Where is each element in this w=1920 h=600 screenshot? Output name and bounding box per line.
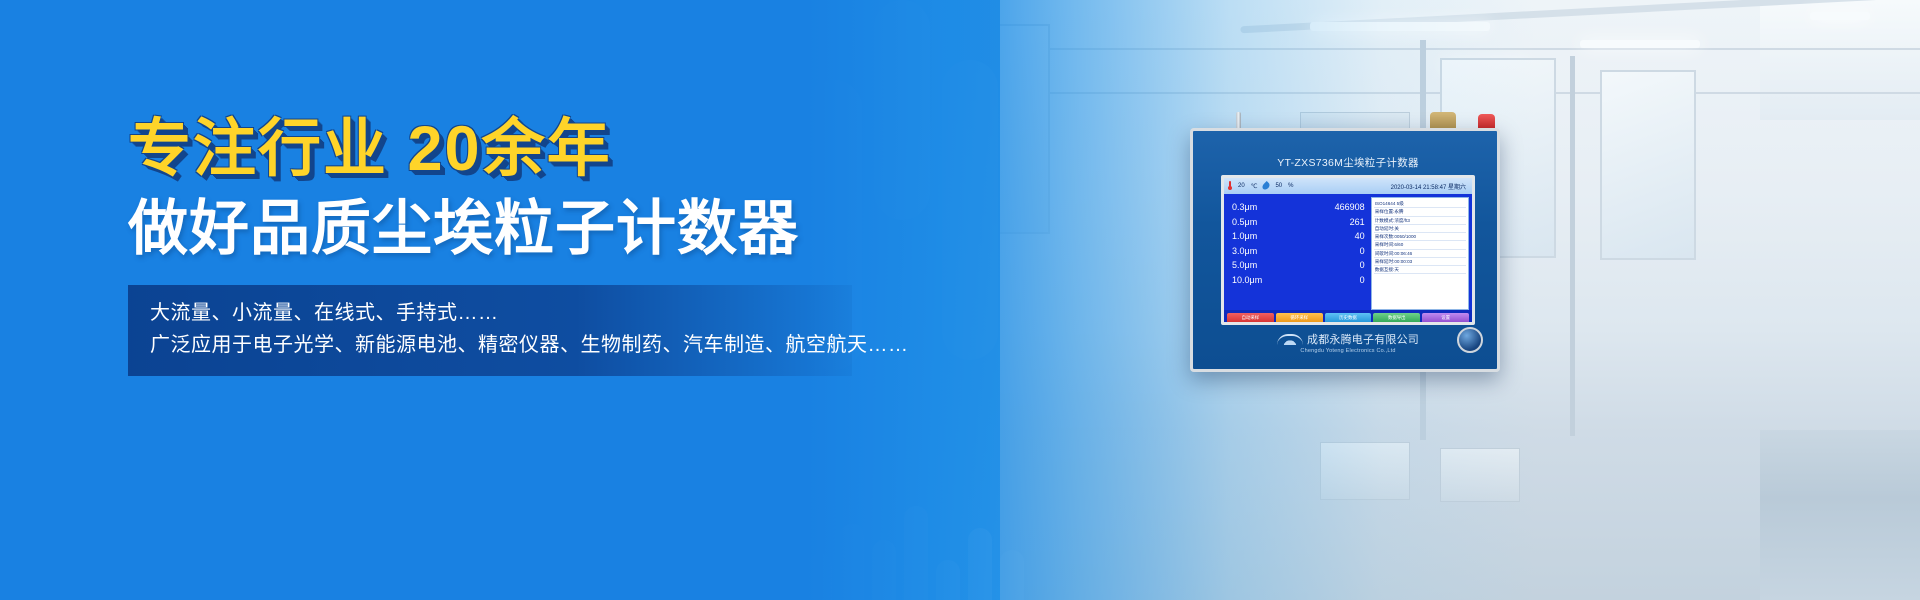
particle-size: 0.5μm: [1232, 215, 1257, 230]
headline-secondary: 做好品质尘埃粒子计数器: [128, 199, 868, 259]
humidity-unit: %: [1288, 183, 1293, 189]
hero-banner: 专注行业 20余年 做好品质尘埃粒子计数器 大流量、小流量、在线式、手持式…… …: [0, 0, 1920, 600]
particle-size: 0.3μm: [1232, 200, 1257, 215]
particle-count: 261: [1350, 215, 1365, 230]
particle-row: 10.0μm 0: [1232, 273, 1365, 288]
particle-row: 0.5μm 261: [1232, 215, 1365, 230]
description-line-1: 大流量、小流量、在线式、手持式……: [150, 297, 852, 329]
particle-size: 1.0μm: [1232, 229, 1257, 244]
device-body: YT-ZXS736M尘埃粒子计数器 20 ℃ 50 % 2020-03-14 2…: [1190, 128, 1500, 372]
particle-readings-list: 0.3μm 466908 0.5μm 261 1.0μm 40 3.0μm: [1224, 194, 1371, 310]
particle-row: 3.0μm 0: [1232, 244, 1365, 259]
particle-size: 10.0μm: [1232, 273, 1262, 288]
measurement-info-panel: ISO14644 5级 采样位置:永腾 计数模式:浓度/ft3 自动延时:关 采…: [1371, 197, 1469, 310]
temperature-value: 20: [1238, 183, 1245, 189]
datetime-display: 2020-03-14 21:58:47 星期六: [1391, 182, 1468, 191]
particle-size: 5.0μm: [1232, 258, 1257, 273]
info-row: 自动延时:关: [1374, 225, 1466, 233]
description-line-2: 广泛应用于电子光学、新能源电池、精密仪器、生物制药、汽车制造、航空航天……: [150, 329, 852, 361]
power-knob[interactable]: [1457, 327, 1483, 353]
device-model-title: YT-ZXS736M尘埃粒子计数器: [1193, 155, 1503, 170]
info-row: 采样时间:6/60: [1374, 241, 1466, 249]
info-row: 计数模式:浓度/ft3: [1374, 217, 1466, 225]
particle-row: 0.3μm 466908: [1232, 200, 1365, 215]
particle-counter-device: YT-ZXS736M尘埃粒子计数器 20 ℃ 50 % 2020-03-14 2…: [1190, 112, 1500, 372]
brand-name-en: Chengdu Yoteng Electronics Co.,Ltd: [1193, 348, 1503, 354]
particle-count: 0: [1360, 273, 1365, 288]
humidity-drop-icon: [1261, 181, 1271, 191]
particle-row: 5.0μm 0: [1232, 258, 1365, 273]
info-row: 采样延时:00:00:03: [1374, 258, 1466, 266]
particle-count: 0: [1360, 244, 1365, 259]
info-row: ISO14644 5级: [1374, 200, 1466, 208]
data-export-button[interactable]: 数据导出: [1373, 313, 1420, 324]
info-row: 数据互接:天: [1374, 266, 1466, 274]
thermometer-icon: [1228, 181, 1232, 191]
settings-button[interactable]: 设置: [1422, 313, 1469, 324]
device-lcd-screen[interactable]: 20 ℃ 50 % 2020-03-14 21:58:47 星期六 0.3μm …: [1221, 175, 1475, 325]
history-data-button[interactable]: 历史数据: [1325, 313, 1372, 324]
info-row: 采样位置:永腾: [1374, 208, 1466, 216]
info-row: 采样次数:0050/1000: [1374, 233, 1466, 241]
temperature-unit: ℃: [1251, 183, 1258, 190]
particle-count: 0: [1360, 258, 1365, 273]
lcd-status-bar: 20 ℃ 50 % 2020-03-14 21:58:47 星期六: [1224, 178, 1472, 194]
hero-copy: 专注行业 20余年 做好品质尘埃粒子计数器 大流量、小流量、在线式、手持式…… …: [128, 118, 868, 376]
auto-sample-button[interactable]: 自动采样: [1227, 313, 1274, 324]
lcd-button-bar: 自动采样 循环采样 历史数据 数据导出 设置: [1224, 310, 1472, 325]
yoteng-logo-icon: [1277, 334, 1303, 345]
brand-name-cn: 成都永腾电子有限公司: [1307, 334, 1419, 346]
loop-sample-button[interactable]: 循环采样: [1276, 313, 1323, 324]
particle-row: 1.0μm 40: [1232, 229, 1365, 244]
particle-count: 466908: [1335, 200, 1365, 215]
lcd-main-area: 0.3μm 466908 0.5μm 261 1.0μm 40 3.0μm: [1224, 194, 1472, 310]
description-band: 大流量、小流量、在线式、手持式…… 广泛应用于电子光学、新能源电池、精密仪器、生…: [128, 285, 852, 376]
headline-primary: 专注行业 20余年: [128, 118, 868, 181]
particle-count: 40: [1355, 229, 1365, 244]
particle-size: 3.0μm: [1232, 244, 1257, 259]
info-row: 间歇时间:00:06:46: [1374, 250, 1466, 258]
humidity-value: 50: [1275, 183, 1282, 189]
